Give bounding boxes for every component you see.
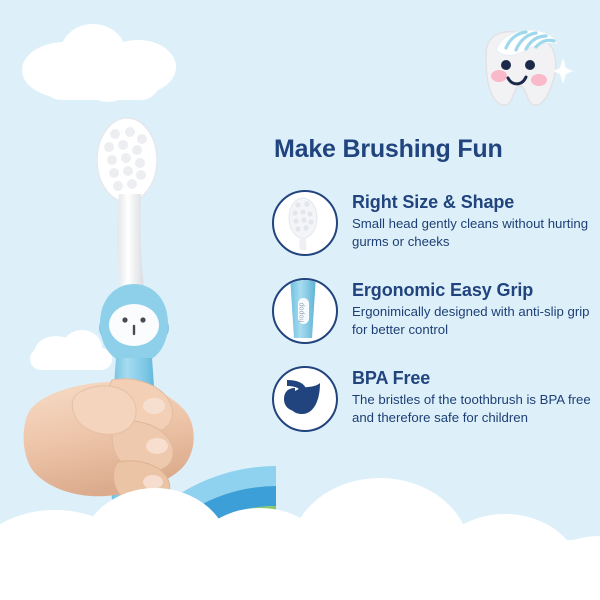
feature-description: Ergonimically designed with anti-slip gr… (352, 303, 592, 338)
feature-text: BPA Free The bristles of the toothbrush … (352, 366, 592, 427)
product-feature-graphic: hopop (0, 0, 600, 600)
leaf-eco-icon (272, 366, 338, 432)
feature-title: BPA Free (352, 368, 592, 389)
monkey-eye-right (140, 317, 145, 322)
eye-left (501, 60, 511, 70)
kids-toothbrush-in-hand: hopop (20, 110, 250, 530)
feature-title: Right Size & Shape (352, 192, 592, 213)
cloud-base (0, 540, 600, 600)
feature-list-panel: Make Brushing Fun Right Size & Shape S (272, 136, 592, 454)
brush-neck (117, 194, 144, 288)
eye-right (525, 60, 535, 70)
leaf-solid (289, 383, 320, 414)
tooth-mascot-svg (466, 24, 574, 120)
monkey-eye-left (122, 317, 127, 322)
handle-grip-icon-svg: hopop (274, 280, 332, 338)
feature-description: Small head gently cleans without hurting… (352, 215, 592, 250)
page-title: Make Brushing Fun (274, 136, 592, 164)
feature-item-bpa-free: BPA Free The bristles of the toothbrush … (272, 366, 592, 432)
brush-head-icon (272, 190, 338, 256)
brand-text-icon: hopop (299, 302, 306, 322)
feature-item-ergonomic-easy-grip: hopop Ergonomic Easy Grip Ergonimically … (272, 278, 592, 344)
cloud-puff (86, 66, 130, 102)
feature-text: Right Size & Shape Small head gently cle… (352, 190, 592, 251)
handle-grip-icon: hopop (272, 278, 338, 344)
cloud-decoration-bottom (0, 470, 600, 600)
feature-text: Ergonomic Easy Grip Ergonimically design… (352, 278, 592, 339)
feature-description: The bristles of the toothbrush is BPA fr… (352, 391, 592, 426)
toothbrush-svg: hopop (20, 110, 250, 530)
leaf-eco-icon-svg (274, 368, 332, 426)
feature-title: Ergonomic Easy Grip (352, 280, 592, 301)
smiling-tooth-mascot (466, 24, 574, 120)
cheek-right (531, 74, 547, 86)
feature-item-right-size-shape: Right Size & Shape Small head gently cle… (272, 190, 592, 256)
brush-head-icon-svg (274, 192, 332, 250)
cheek-left (491, 70, 507, 82)
monkey-character (99, 284, 169, 364)
